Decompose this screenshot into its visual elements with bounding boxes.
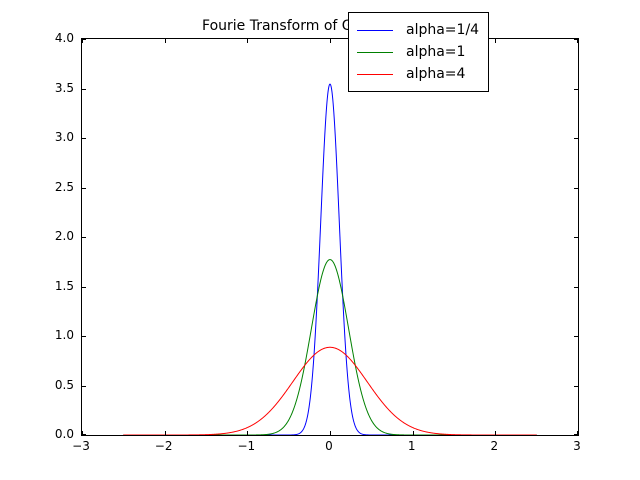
x-tick-mark	[413, 431, 414, 435]
legend-label: alpha=1	[406, 44, 465, 60]
x-tick-mark	[577, 431, 578, 435]
y-tick-mark-right	[574, 336, 578, 337]
y-tick-mark	[82, 89, 86, 90]
x-tick-mark	[165, 431, 166, 435]
y-tick-mark	[82, 336, 86, 337]
x-tick-label: 0	[309, 440, 349, 452]
y-tick-mark	[82, 386, 86, 387]
y-tick-mark-right	[574, 287, 578, 288]
y-tick-mark	[82, 237, 86, 238]
legend-item: alpha=1	[357, 41, 479, 63]
x-tick-label: −1	[226, 440, 266, 452]
x-tick-mark-top	[165, 39, 166, 43]
y-tick-label: 1.0	[55, 329, 74, 341]
curve-alpha-4	[123, 347, 536, 435]
y-tick-label: 3.0	[55, 131, 74, 143]
x-tick-label: 2	[474, 440, 514, 452]
x-tick-mark-top	[82, 39, 83, 43]
x-tick-label: 1	[392, 440, 432, 452]
legend-line-icon	[357, 52, 393, 53]
plot-curves	[82, 39, 578, 435]
chart-title: Fourie Transform of Gauss Functions	[81, 17, 577, 35]
matplotlib-figure: Fourie Transform of Gauss Functions 0.00…	[0, 0, 640, 480]
x-axis-tick-labels: −3−2−10123	[81, 440, 577, 460]
y-tick-label: 2.5	[55, 181, 74, 193]
y-tick-label: 1.5	[55, 280, 74, 292]
x-tick-mark	[495, 431, 496, 435]
y-tick-mark-right	[574, 237, 578, 238]
y-tick-label: 4.0	[55, 32, 74, 44]
y-tick-label: 0.5	[55, 379, 74, 391]
legend: alpha=1/4alpha=1alpha=4	[348, 12, 489, 92]
x-tick-label: −3	[61, 440, 101, 452]
x-tick-mark-top	[330, 39, 331, 43]
y-tick-label: 3.5	[55, 82, 74, 94]
y-tick-mark-right	[574, 89, 578, 90]
legend-label: alpha=4	[406, 66, 465, 82]
x-tick-label: 3	[557, 440, 597, 452]
y-tick-mark	[82, 138, 86, 139]
legend-label: alpha=1/4	[406, 22, 479, 38]
y-tick-mark-right	[574, 386, 578, 387]
x-tick-label: −2	[144, 440, 184, 452]
legend-item: alpha=4	[357, 63, 479, 85]
x-tick-mark	[330, 431, 331, 435]
x-tick-mark-top	[495, 39, 496, 43]
x-tick-mark-top	[577, 39, 578, 43]
legend-line-icon	[357, 74, 393, 75]
x-tick-mark	[82, 431, 83, 435]
y-tick-mark-right	[574, 138, 578, 139]
y-tick-mark	[82, 287, 86, 288]
y-tick-label: 2.0	[55, 230, 74, 242]
x-tick-mark-top	[247, 39, 248, 43]
x-tick-mark	[247, 431, 248, 435]
legend-line-icon	[357, 30, 393, 31]
y-axis-tick-labels: 0.00.51.01.52.02.53.03.54.0	[30, 38, 74, 434]
y-tick-mark-right	[574, 188, 578, 189]
plot-axes	[81, 38, 579, 436]
y-tick-mark	[82, 188, 86, 189]
y-tick-label: 0.0	[55, 428, 74, 440]
legend-item: alpha=1/4	[357, 19, 479, 41]
